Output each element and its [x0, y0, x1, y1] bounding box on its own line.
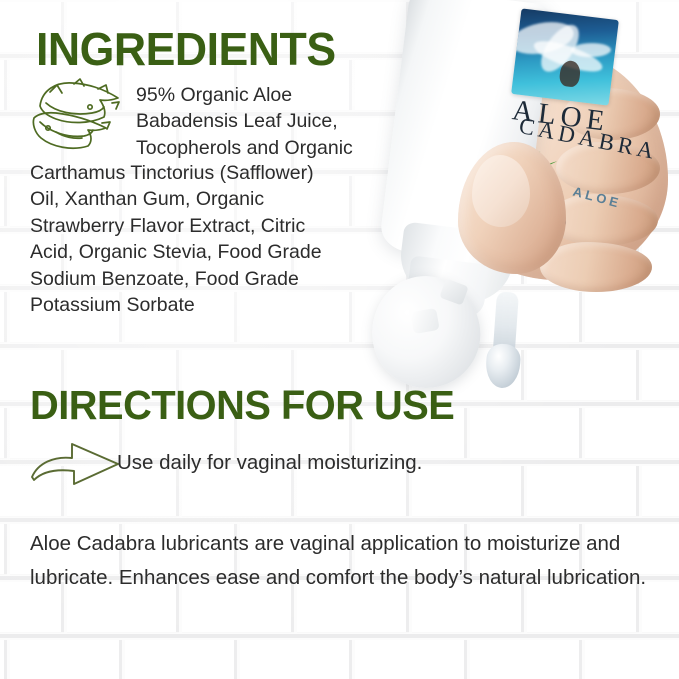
- usage-instruction-line: Use daily for vaginal moisturizing.: [117, 450, 422, 476]
- curved-arrow-icon: [28, 436, 124, 490]
- label-photo-swimmer: [511, 8, 619, 105]
- subway-tile: [585, 408, 679, 458]
- subway-tile: [0, 292, 7, 342]
- directions-paragraph: Aloe Cadabra lubricants are vaginal appl…: [30, 527, 670, 595]
- directions-heading: DIRECTIONS FOR USE: [30, 385, 454, 426]
- subway-tile: [412, 466, 524, 516]
- ingredients-lead-text: 95% Organic Aloe Babadensis Leaf Juice, …: [136, 82, 436, 161]
- ingredients-remaining-text: Carthamus Tinctorius (Safflower) Oil, Xa…: [30, 160, 390, 318]
- aloe-leaf-icon: [26, 76, 130, 154]
- subway-tile: [355, 640, 467, 679]
- subway-tile: [470, 408, 582, 458]
- hand-thumbnail: [472, 155, 530, 227]
- subway-tile: [585, 640, 679, 679]
- subway-tile: [0, 60, 7, 110]
- tile-row: [0, 638, 679, 679]
- subway-tile: [470, 640, 582, 679]
- product-photo-hand-holding-tube: ALOE CADABRA NATURAL ALOE NET WT 2.5 OZ …: [350, 0, 679, 412]
- subway-tile: [642, 466, 679, 516]
- subway-tile: [527, 466, 639, 516]
- subway-tile: [0, 176, 7, 226]
- subway-tile: [0, 524, 7, 574]
- subway-tile: [10, 640, 122, 679]
- gel-droplet: [485, 343, 522, 389]
- product-infographic: ALOE CADABRA NATURAL ALOE NET WT 2.5 OZ …: [0, 0, 679, 679]
- ingredients-heading: INGREDIENTS: [36, 26, 336, 72]
- cap-nub: [410, 308, 439, 334]
- subway-tile: [0, 640, 7, 679]
- subway-tile: [0, 408, 7, 458]
- subway-tile: [125, 640, 237, 679]
- subway-tile: [240, 640, 352, 679]
